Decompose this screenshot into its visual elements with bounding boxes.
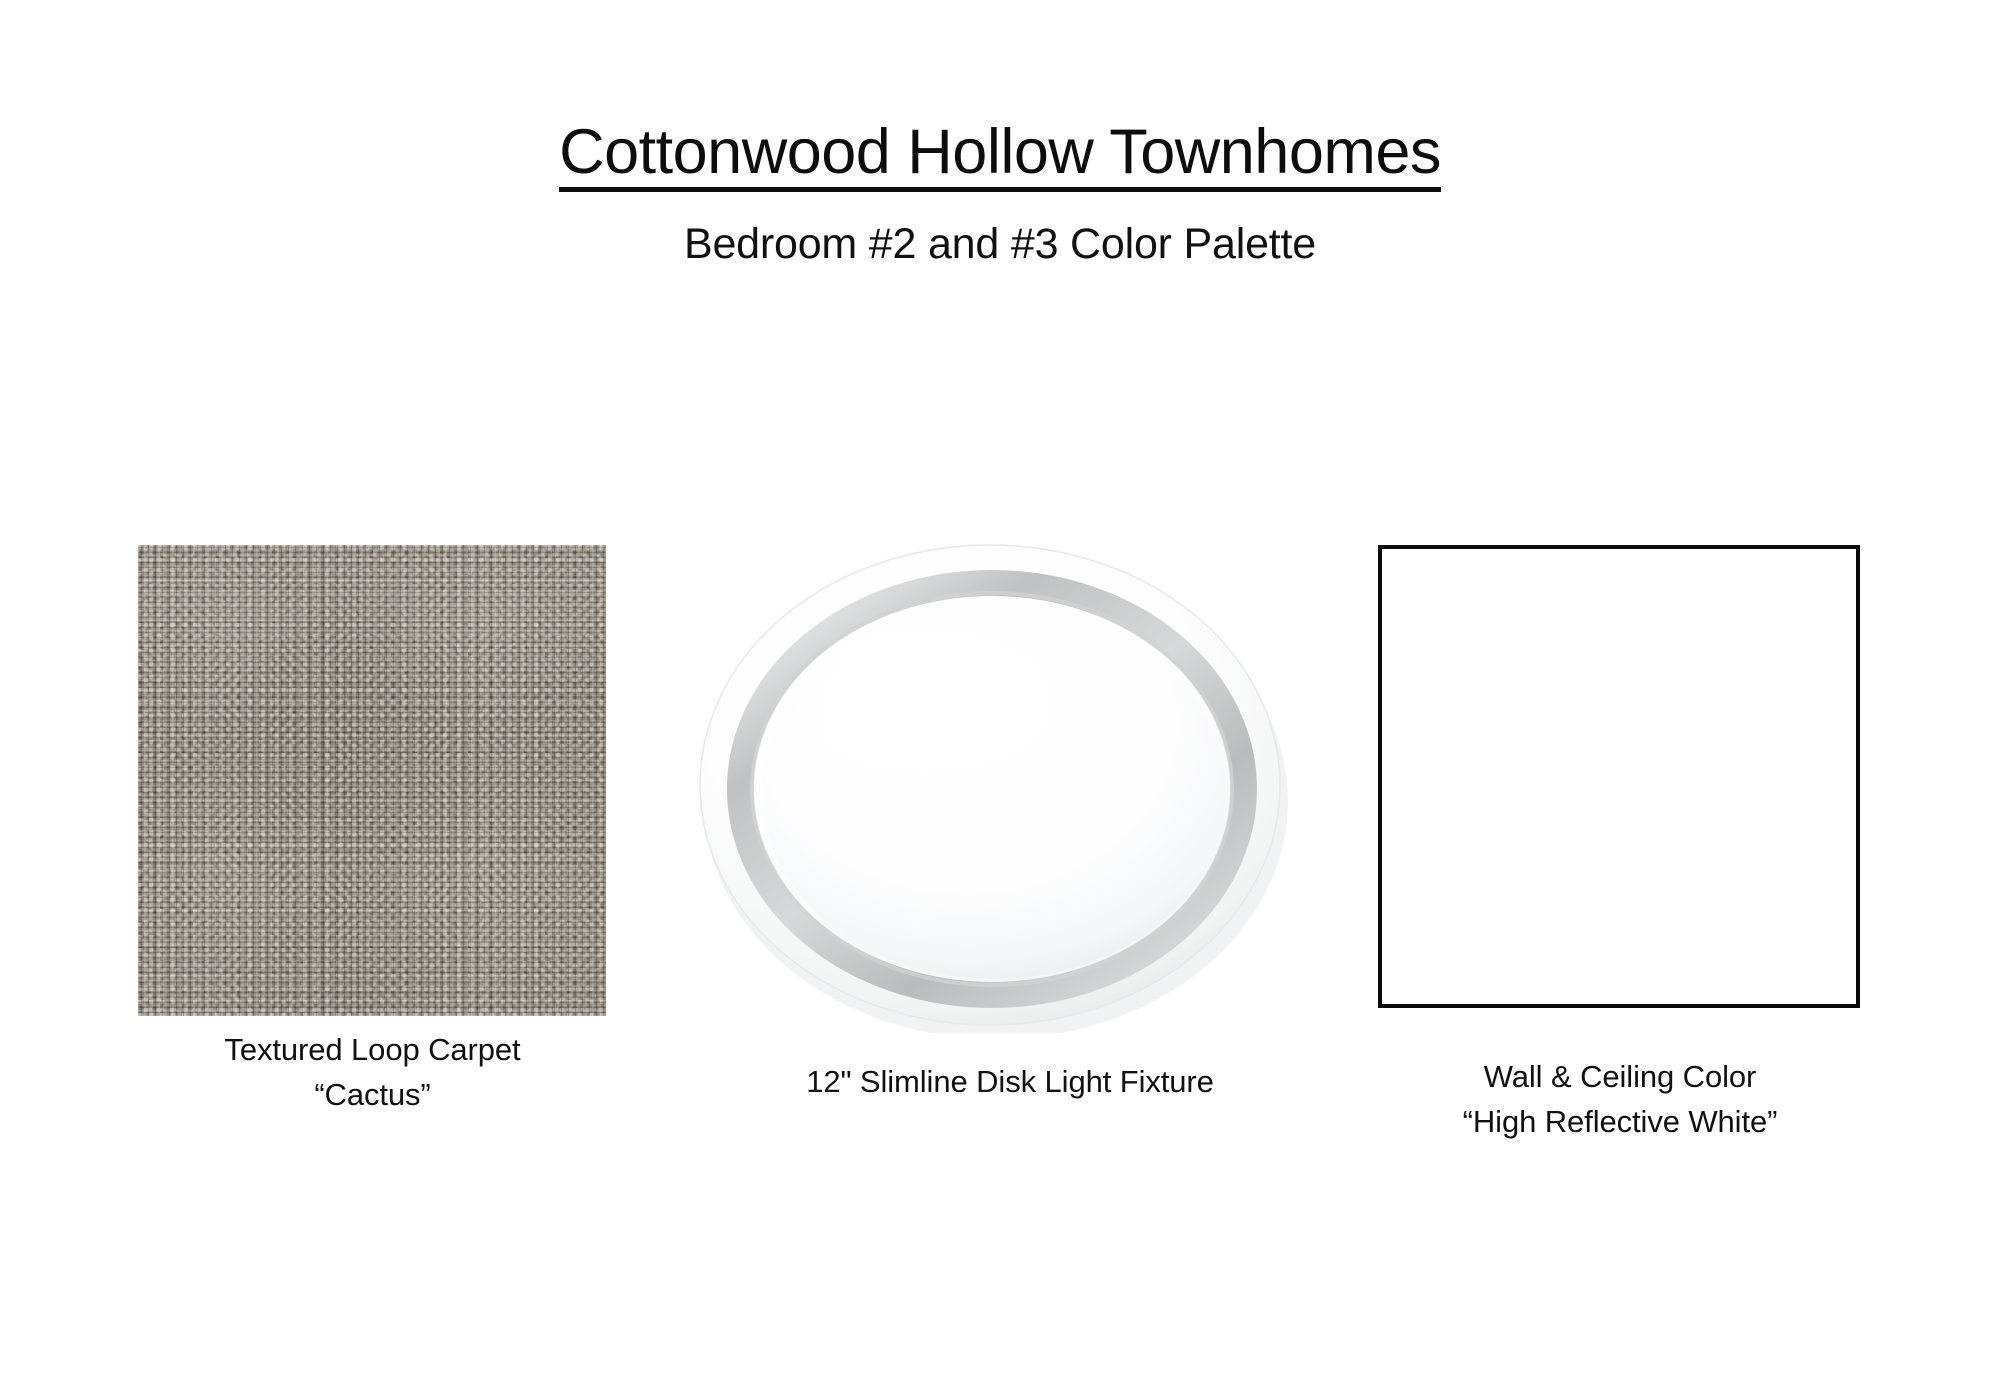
disk-light-icon bbox=[680, 533, 1300, 1033]
paint-caption-line2: “High Reflective White” bbox=[1330, 1100, 1910, 1145]
palette-item-carpet bbox=[138, 545, 606, 1016]
carpet-swatch bbox=[138, 545, 606, 1016]
light-fixture-image bbox=[680, 545, 1340, 1045]
paint-color-chip bbox=[1378, 545, 1860, 1008]
carpet-caption-line2: “Cactus” bbox=[100, 1073, 645, 1118]
palette-item-light bbox=[680, 545, 1340, 1045]
carpet-caption: Textured Loop Carpet “Cactus” bbox=[100, 1028, 645, 1118]
board-header: Cottonwood Hollow Townhomes Bedroom #2 a… bbox=[0, 118, 2000, 269]
paint-caption-line1: Wall & Ceiling Color bbox=[1330, 1055, 1910, 1100]
page-title: Cottonwood Hollow Townhomes bbox=[559, 118, 1441, 192]
light-caption-line1: 12" Slimline Disk Light Fixture bbox=[660, 1060, 1360, 1105]
paint-caption: Wall & Ceiling Color “High Reflective Wh… bbox=[1330, 1055, 1910, 1145]
page-subtitle: Bedroom #2 and #3 Color Palette bbox=[0, 220, 2000, 269]
color-palette-board: Cottonwood Hollow Townhomes Bedroom #2 a… bbox=[0, 0, 2000, 1391]
light-caption: 12" Slimline Disk Light Fixture bbox=[660, 1060, 1360, 1105]
palette-swatch-row bbox=[0, 545, 2000, 1305]
carpet-caption-line1: Textured Loop Carpet bbox=[100, 1028, 645, 1073]
palette-item-paint bbox=[1378, 545, 1862, 1008]
